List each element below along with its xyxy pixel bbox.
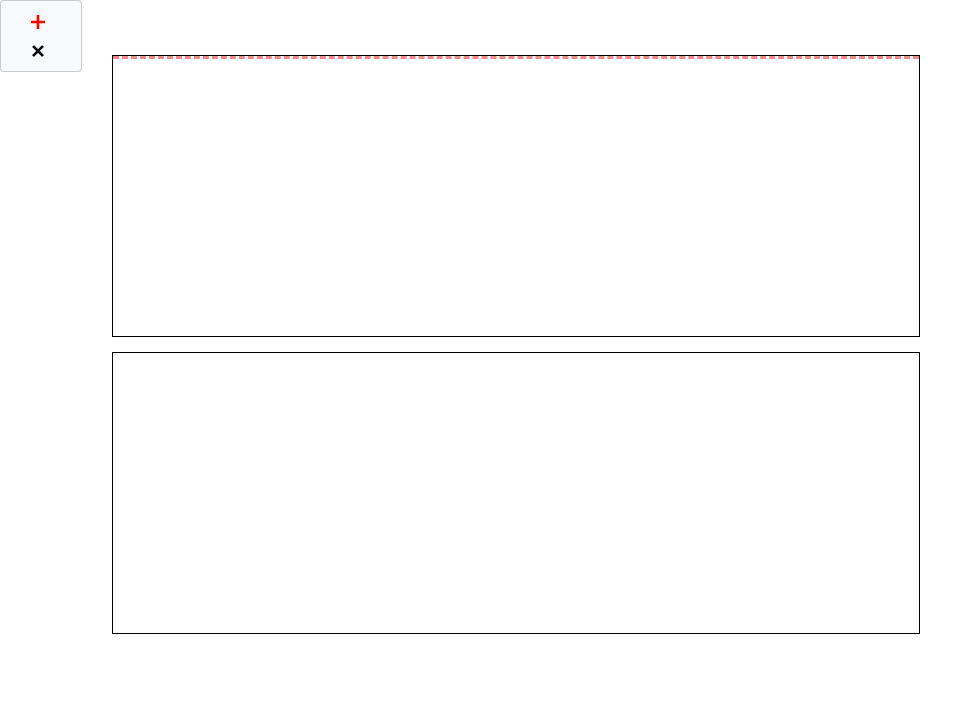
top-panel-axes [112, 55, 920, 337]
bottom-panel-plot-area [113, 353, 919, 633]
top-panel-plot-area [113, 56, 919, 336]
legend-item-predicted-stars[interactable] [11, 36, 69, 65]
matched-plus-icon [11, 12, 65, 32]
legend-item-matched-stars[interactable] [11, 7, 69, 36]
bottom-panel-axes [112, 352, 920, 634]
predicted-cross-icon [11, 41, 65, 61]
bottom-panel-legend[interactable] [0, 0, 82, 72]
threshold-line [113, 56, 919, 59]
flux-observing-figure [0, 0, 960, 720]
